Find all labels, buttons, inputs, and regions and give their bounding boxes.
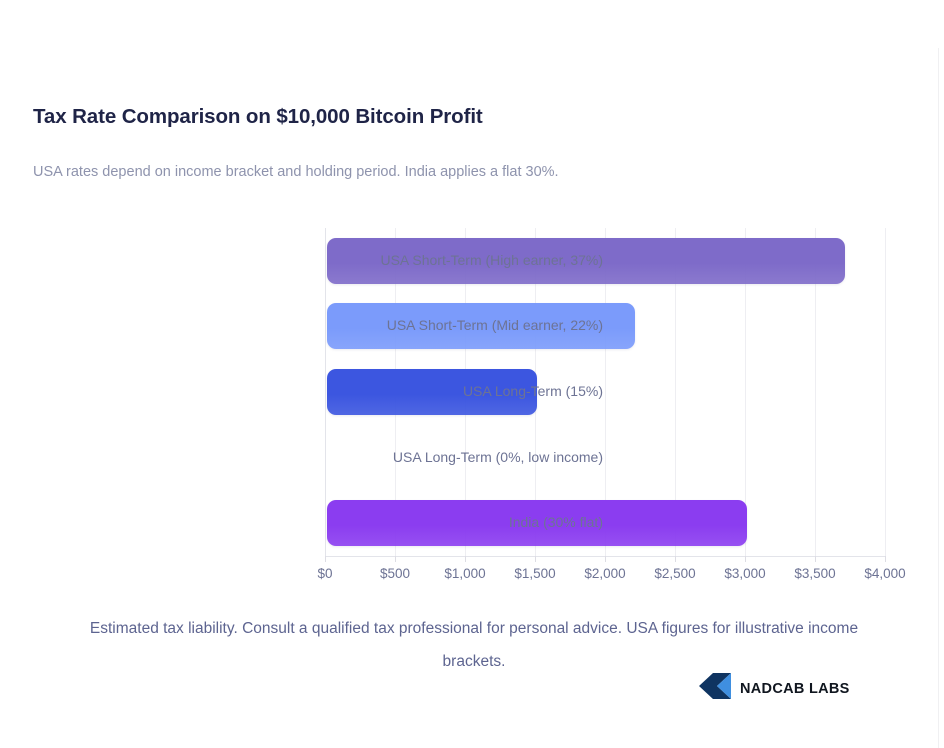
chart-subtitle: USA rates depend on income bracket and h… <box>33 164 559 180</box>
x-axis-tick-label: $1,000 <box>444 566 485 581</box>
card-right-border <box>938 48 939 748</box>
y-axis-category-label: USA Short-Term (High earner, 37%) <box>380 252 603 268</box>
nadcab-chevron-icon <box>698 672 732 705</box>
x-axis-tick <box>745 556 746 562</box>
x-axis-tick-label: $3,500 <box>794 566 835 581</box>
x-axis-tick-label: $1,500 <box>514 566 555 581</box>
x-axis-tick-label: $3,000 <box>724 566 765 581</box>
plot-area: $0$500$1,000$1,500$2,000$2,500$3,000$3,5… <box>325 228 885 556</box>
chart-page: Tax Rate Comparison on $10,000 Bitcoin P… <box>0 0 944 748</box>
x-axis-tick-label: $2,500 <box>654 566 695 581</box>
x-axis-tick <box>885 556 886 562</box>
y-axis-category-label: USA Long-Term (15%) <box>463 383 603 399</box>
x-axis-tick <box>465 556 466 562</box>
x-axis-tick <box>815 556 816 562</box>
footer-disclaimer: Estimated tax liability. Consult a quali… <box>60 612 888 678</box>
x-axis-tick-label: $500 <box>380 566 410 581</box>
x-axis-tick <box>325 556 326 562</box>
y-axis-category-label: USA Long-Term (0%, low income) <box>393 449 603 465</box>
x-axis-tick-label: $0 <box>317 566 332 581</box>
brand-logo-text: NADCAB LABS <box>740 681 850 697</box>
brand-logo: NADCAB LABS <box>698 672 850 705</box>
x-axis-tick-label: $2,000 <box>584 566 625 581</box>
x-axis-tick-label: $4,000 <box>864 566 905 581</box>
x-axis-tick <box>535 556 536 562</box>
y-axis-category-label: USA Short-Term (Mid earner, 22%) <box>387 317 603 333</box>
y-axis-line <box>325 228 326 556</box>
x-axis-tick <box>395 556 396 562</box>
page-title: Tax Rate Comparison on $10,000 Bitcoin P… <box>33 105 483 129</box>
x-axis-tick <box>605 556 606 562</box>
y-axis-category-label: India (30% flat) <box>509 514 603 530</box>
x-axis-tick <box>675 556 676 562</box>
gridline <box>885 228 886 556</box>
